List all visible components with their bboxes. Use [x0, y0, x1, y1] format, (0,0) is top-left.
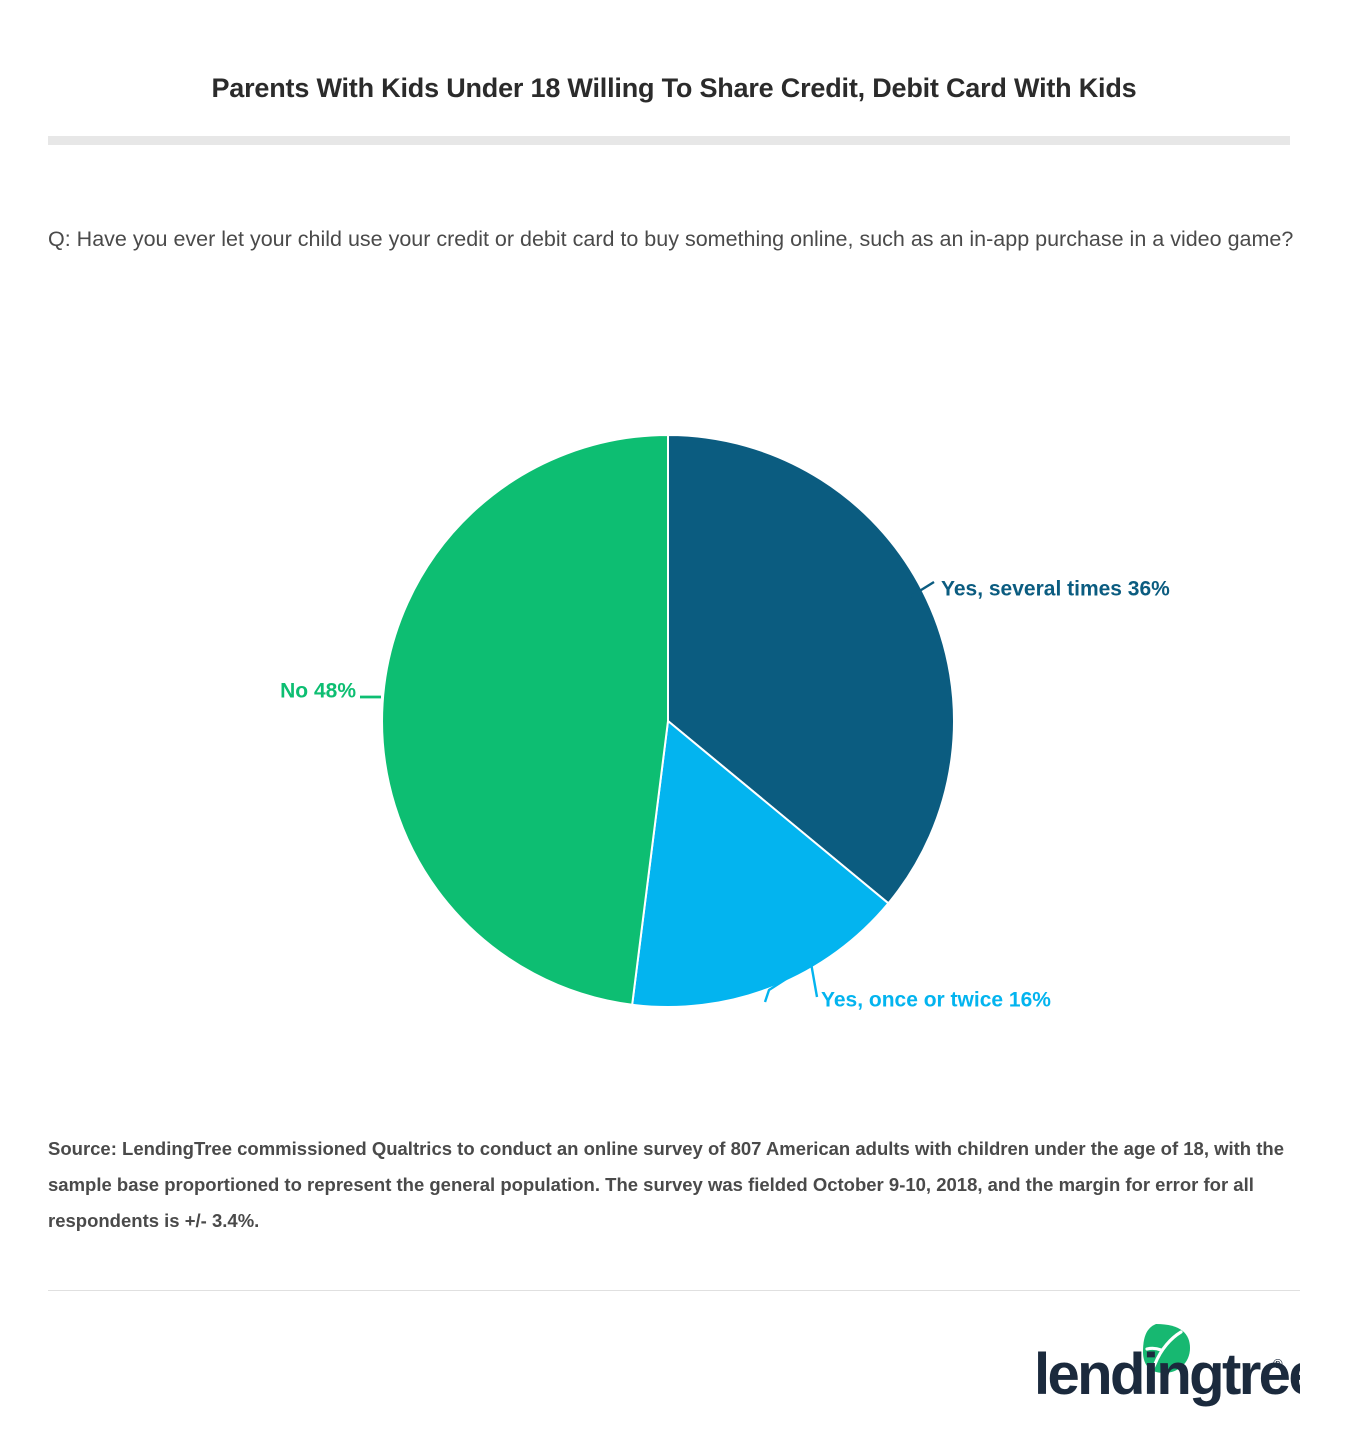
logo-trademark: ®: [1273, 1356, 1283, 1371]
pie-slice-no[interactable]: [382, 435, 668, 1005]
footer-divider: [48, 1290, 1300, 1291]
pie-chart-svg: Yes, several times 36% Yes, once or twic…: [0, 400, 1348, 1060]
lendingtree-logo[interactable]: lendingtree ®: [1030, 1318, 1300, 1408]
logo-wordmark: lendingtree: [1034, 1342, 1300, 1407]
pie-chart: Yes, several times 36% Yes, once or twic…: [0, 400, 1348, 1060]
pie-label-no: No 48%: [280, 680, 356, 703]
page-title: Parents With Kids Under 18 Willing To Sh…: [48, 72, 1300, 104]
source-note: Source: LendingTree commissioned Qualtri…: [48, 1131, 1288, 1239]
title-divider: [48, 136, 1290, 145]
survey-question: Q: Have you ever let your child use your…: [48, 214, 1298, 265]
infographic-page: Parents With Kids Under 18 Willing To Sh…: [0, 0, 1348, 1446]
lendingtree-logo-svg: lendingtree ®: [1030, 1318, 1300, 1408]
pie-label-yes-once-or-twice: Yes, once or twice 16%: [821, 989, 1051, 1012]
pie-label-yes-several-times: Yes, several times 36%: [941, 578, 1170, 601]
